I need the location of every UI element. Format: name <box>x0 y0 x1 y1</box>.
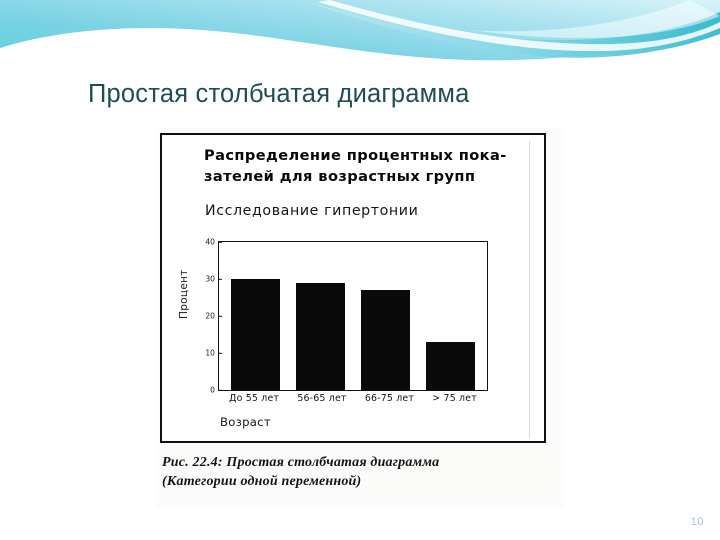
chart-title: Распределение процентных пока- зателей д… <box>204 146 540 187</box>
slide-canvas: Простая столбчатая диаграмма Распределен… <box>0 0 720 540</box>
y-tick-label-20: 20 <box>205 312 219 321</box>
chart-title-line-1: Распределение процентных пока- <box>204 147 507 164</box>
page-number: 10 <box>691 516 704 528</box>
chart-plot-wrapper: Процент 0 10 20 30 40 До 55 лет <box>180 239 530 435</box>
bar-2[interactable] <box>361 290 410 390</box>
bars-layer <box>219 242 487 390</box>
page-title: Простая столбчатая диаграмма <box>88 80 668 108</box>
y-tick-label-40: 40 <box>205 238 219 247</box>
chart-title-line-2: зателей для возрастных групп <box>204 167 540 188</box>
y-tick-label-10: 10 <box>205 349 219 358</box>
x-label-0: До 55 лет <box>229 393 279 404</box>
bar-3[interactable] <box>426 342 475 390</box>
bar-1[interactable] <box>296 283 345 390</box>
plot-area: 0 10 20 30 40 <box>218 241 488 391</box>
x-axis-category-labels: До 55 лет 56-65 лет 66-75 лет > 75 лет <box>218 393 488 404</box>
header-swoosh-decoration <box>0 0 720 78</box>
x-label-2: 66-75 лет <box>365 393 414 404</box>
x-label-1: 56-65 лет <box>297 393 346 404</box>
figure-caption-line-1: Рис. 22.4: Простая столбчатая диаграмма <box>162 453 558 472</box>
figure-caption-line-2: (Категории одной переменной) <box>162 472 558 491</box>
figure-block[interactable]: Распределение процентных пока- зателей д… <box>156 128 564 508</box>
x-label-3: > 75 лет <box>432 393 477 404</box>
y-axis-title: Процент <box>178 239 190 319</box>
bar-0[interactable] <box>231 279 280 390</box>
chart-subtitle: Исследование гипертонии <box>205 203 418 219</box>
x-axis-title: Возраст <box>220 415 271 429</box>
chart-scan-frame: Распределение процентных пока- зателей д… <box>160 133 546 443</box>
y-tick-label-30: 30 <box>205 275 219 284</box>
figure-caption: Рис. 22.4: Простая столбчатая диаграмма … <box>162 453 558 491</box>
